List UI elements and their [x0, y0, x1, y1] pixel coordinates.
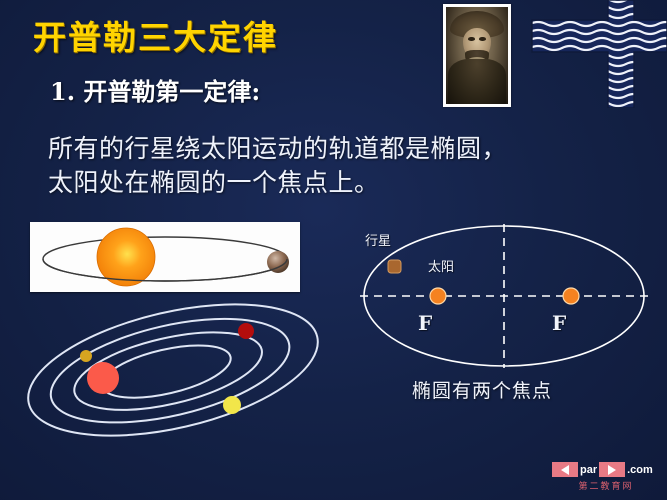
orbit-ring-innermost: [97, 335, 236, 408]
body-paragraph: 所有的行星绕太阳运动的轨道都是椭圆， 太阳处在椭圆的一个焦点上。: [48, 132, 507, 200]
orbit-ring-middle: [41, 300, 299, 440]
focus-left-sun: [430, 288, 446, 304]
ornament-outline: [532, 0, 667, 108]
focus-label-left: F: [418, 311, 432, 335]
body-line-2: 太阳处在椭圆的一个焦点上。: [48, 166, 507, 200]
planet-yellow-dark: [80, 350, 92, 362]
orbit-front-arc: [43, 259, 287, 281]
portrait-body: [448, 59, 505, 104]
central-star: [87, 362, 119, 394]
page-title: 开普勒三大定律: [33, 11, 278, 59]
orbit-group: [18, 300, 328, 440]
planet-marker: [388, 260, 401, 273]
focus-right: [563, 288, 579, 304]
planet-yellow-bright: [223, 396, 241, 414]
ellipse-foci-diagram: 行星 太阳 F F: [352, 218, 657, 378]
watermark-chinese-text: 第二教育网: [552, 479, 660, 492]
focus-label-right: F: [552, 311, 566, 335]
watermark-left-box: [552, 462, 578, 477]
portrait-eye-right: [479, 37, 485, 41]
play-left-icon: [561, 465, 569, 475]
kepler-portrait-frame: [443, 4, 511, 107]
kepler-portrait-image: [446, 7, 508, 104]
planet-label: 行星: [365, 230, 391, 249]
sun-label: 太阳: [428, 256, 454, 275]
ellipse-foci-graphic: [352, 218, 657, 378]
section-heading: 1. 开普勒第一定律:: [50, 72, 260, 107]
site-watermark: par .com 第二教育网: [552, 461, 660, 493]
body-line-1: 所有的行星绕太阳运动的轨道都是椭圆，: [48, 132, 507, 166]
wavy-cross-ornament: [530, 0, 667, 108]
slide-canvas: 开普勒三大定律 1. 开普勒第一定律: 所有的行星绕太阳运动的轨道都是椭圆， 太…: [0, 0, 667, 500]
sun-orbit-photo: [30, 222, 300, 292]
watermark-right-box: [599, 462, 625, 477]
play-right-icon: [608, 465, 616, 475]
diagram-caption: 椭圆有两个焦点: [412, 376, 552, 403]
solar-system-orbits: [18, 300, 328, 440]
portrait-eye-left: [468, 37, 474, 41]
watermark-mid-text: par: [578, 464, 599, 476]
planet-red: [238, 323, 254, 339]
watermark-domain-text: .com: [625, 464, 653, 476]
watermark-row: par .com: [552, 461, 660, 478]
sun-disc: [97, 228, 155, 286]
sun-orbit-graphic: [30, 222, 300, 292]
